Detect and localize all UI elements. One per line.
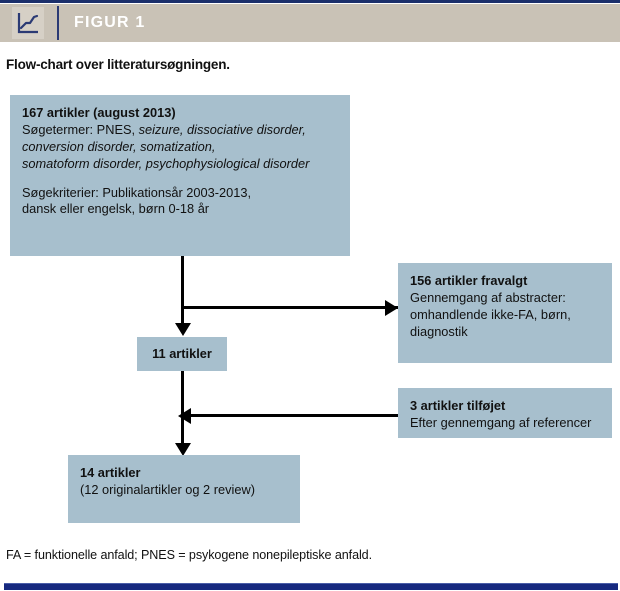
flow-node-source-criteria-2: dansk eller engelsk, børn 0-18 år — [22, 201, 209, 216]
flow-node-added: 3 artikler tilføjet Efter gennemgang af … — [398, 388, 612, 438]
flow-node-excluded-line-1: Gennemgang af abstracter: — [410, 290, 566, 305]
flow-node-added-title: 3 artikler tilføjet — [410, 398, 505, 413]
flow-node-excluded-title: 156 artikler fravalgt — [410, 273, 527, 288]
top-rule — [0, 0, 620, 3]
figure-footnote: FA = funktionelle anfald; PNES = psykoge… — [6, 548, 372, 562]
figure-caption: Flow-chart over litteratursøgningen. — [6, 57, 230, 72]
flow-node-source-title: 167 artikler (august 2013) — [22, 105, 176, 120]
connector-from-added — [190, 414, 400, 417]
figure-header-bar: FIGUR 1 — [0, 4, 620, 42]
flow-node-final: 14 artikler (12 originalartikler og 2 re… — [68, 455, 300, 523]
line-chart-icon — [12, 7, 44, 39]
flow-node-source-terms-3: somatoform disorder, psychophysiological… — [22, 156, 309, 171]
flow-node-added-line-1: Efter gennemgang af referencer — [410, 415, 591, 430]
bottom-rule — [4, 583, 618, 590]
arrowhead-to-middle — [175, 323, 191, 336]
flow-node-source-spacer — [22, 173, 338, 185]
connector-source-to-middle — [181, 256, 184, 323]
flow-node-final-line-1: (12 originalartikler og 2 review) — [80, 482, 255, 497]
header-divider — [57, 6, 59, 40]
arrowhead-to-excluded — [385, 300, 398, 316]
flow-node-source: 167 artikler (august 2013) Søgetermer: P… — [10, 95, 350, 256]
flow-node-excluded-line-3: diagnostik — [410, 324, 468, 339]
flow-node-excluded-line-2: omhandlende ikke-FA, børn, — [410, 307, 571, 322]
figure-label: FIGUR 1 — [74, 14, 146, 32]
arrowhead-from-added — [178, 408, 191, 424]
flow-node-source-criteria-1: Søgekriterier: Publikationsår 2003-2013, — [22, 185, 251, 200]
flow-node-excluded: 156 artikler fravalgt Gennemgang af abst… — [398, 263, 612, 363]
flow-node-source-terms-2: conversion disorder, somatization, — [22, 139, 215, 154]
flow-node-middle: 11 artikler — [137, 337, 227, 371]
flow-node-middle-title: 11 artikler — [152, 346, 212, 363]
connector-to-excluded — [181, 306, 405, 309]
flow-node-source-terms-prefix: Søgetermer: PNES, — [22, 122, 139, 137]
flow-node-final-title: 14 artikler — [80, 465, 140, 480]
flow-node-source-terms-1: seizure, dissociative disorder, — [139, 122, 306, 137]
